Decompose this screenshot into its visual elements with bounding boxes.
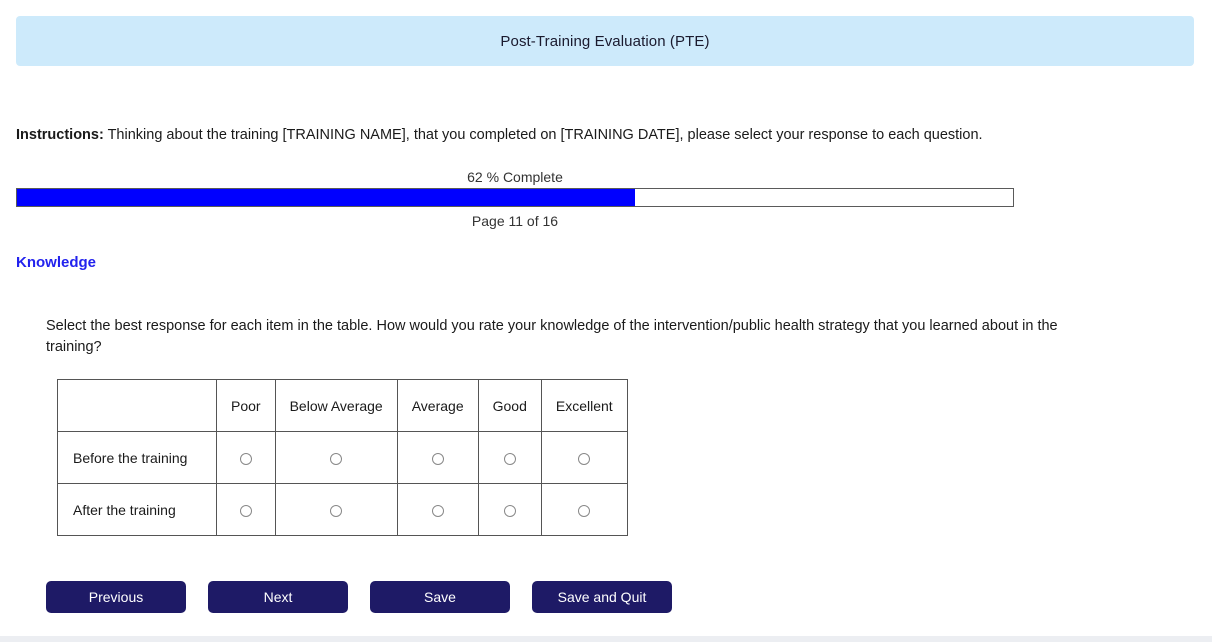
radio-after-average[interactable]: [432, 505, 444, 517]
row-label-before-the-training: Before the training: [58, 432, 217, 484]
column-header-below-average: Below Average: [275, 380, 397, 432]
cell-after-poor[interactable]: [217, 484, 276, 536]
page-indicator: Page 11 of 16: [16, 213, 1014, 229]
question-text: Select the best response for each item i…: [46, 316, 1071, 358]
column-header-excellent: Excellent: [541, 380, 627, 432]
instructions-body: Thinking about the training [TRAINING NA…: [104, 127, 983, 143]
radio-before-excellent[interactable]: [578, 453, 590, 465]
radio-before-poor[interactable]: [240, 453, 252, 465]
cell-before-average[interactable]: [397, 432, 478, 484]
progress-percent-label: 62 % Complete: [16, 169, 1194, 185]
table-header-row: Poor Below Average Average Good Excellen…: [58, 380, 628, 432]
table-row: After the training: [58, 484, 628, 536]
page-title: Post-Training Evaluation (PTE): [500, 33, 709, 50]
radio-after-excellent[interactable]: [578, 505, 590, 517]
cell-after-good[interactable]: [478, 484, 541, 536]
save-button[interactable]: Save: [370, 581, 510, 613]
rating-matrix-table: Poor Below Average Average Good Excellen…: [57, 379, 628, 536]
instructions-text: Instructions: Thinking about the trainin…: [16, 126, 983, 144]
cell-before-poor[interactable]: [217, 432, 276, 484]
progress-bar-fill: [17, 189, 635, 206]
radio-before-below-average[interactable]: [330, 453, 342, 465]
radio-after-good[interactable]: [504, 505, 516, 517]
progress-percent-text: 62 % Complete: [16, 169, 1014, 185]
footer-strip: [0, 636, 1212, 642]
cell-after-excellent[interactable]: [541, 484, 627, 536]
next-button[interactable]: Next: [208, 581, 348, 613]
row-label-after-the-training: After the training: [58, 484, 217, 536]
cell-before-excellent[interactable]: [541, 432, 627, 484]
progress-bar: [16, 188, 1014, 207]
table-corner-cell: [58, 380, 217, 432]
cell-before-below-average[interactable]: [275, 432, 397, 484]
radio-before-average[interactable]: [432, 453, 444, 465]
radio-before-good[interactable]: [504, 453, 516, 465]
cell-after-average[interactable]: [397, 484, 478, 536]
form-actions: Previous Next Save Save and Quit: [46, 581, 672, 613]
column-header-average: Average: [397, 380, 478, 432]
save-and-quit-button[interactable]: Save and Quit: [532, 581, 672, 613]
instructions-label: Instructions:: [16, 127, 104, 143]
section-heading-knowledge: Knowledge: [16, 254, 96, 271]
page-header-banner: Post-Training Evaluation (PTE): [16, 16, 1194, 66]
table-row: Before the training: [58, 432, 628, 484]
radio-after-poor[interactable]: [240, 505, 252, 517]
cell-before-good[interactable]: [478, 432, 541, 484]
cell-after-below-average[interactable]: [275, 484, 397, 536]
previous-button[interactable]: Previous: [46, 581, 186, 613]
radio-after-below-average[interactable]: [330, 505, 342, 517]
column-header-poor: Poor: [217, 380, 276, 432]
column-header-good: Good: [478, 380, 541, 432]
